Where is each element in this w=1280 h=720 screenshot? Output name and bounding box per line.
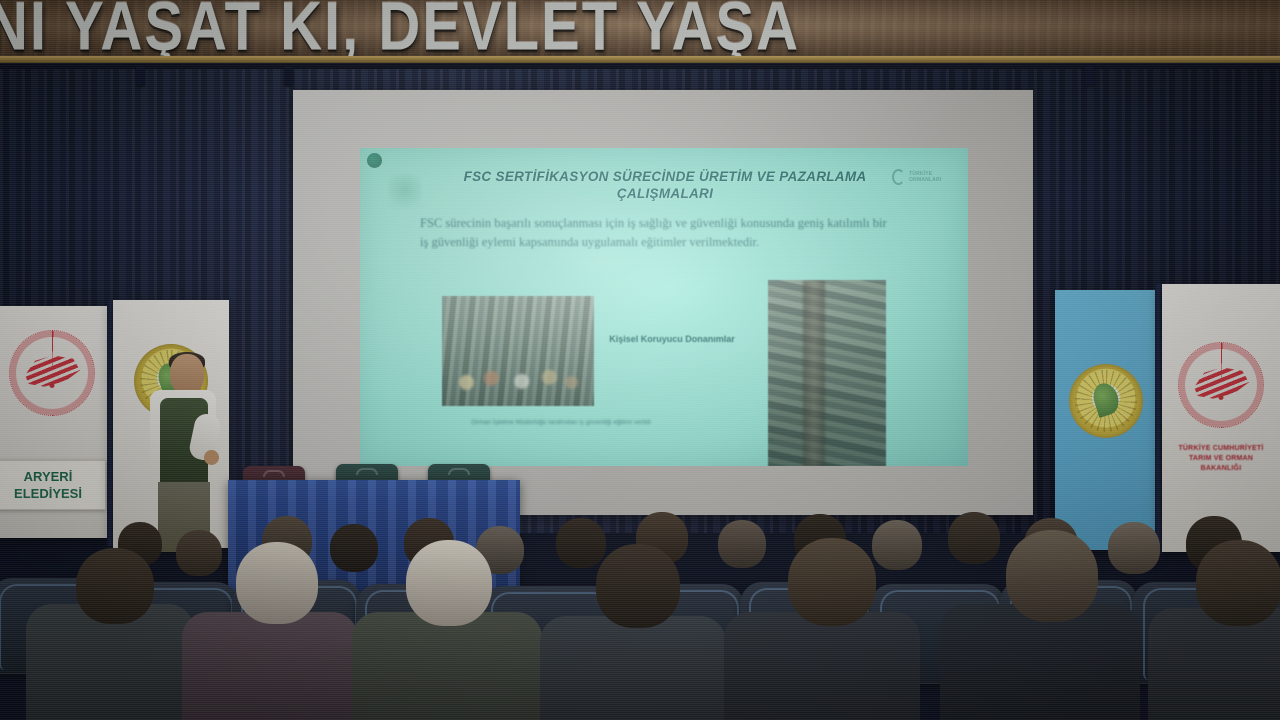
audience-person [352,612,542,720]
tree-trunk [803,280,825,466]
audience-head [556,518,606,568]
curtain-clamp [136,66,145,86]
audience-person [182,612,358,720]
conference-hall-photo: NI YAŞAT KI, DEVLET YAŞA TÜRKİYE ORMANLA… [0,0,1280,720]
municipality-line-1: ARYERİ [0,468,101,485]
watermark-icon [388,174,422,210]
slide-photo-forest-workers [442,296,594,406]
audience-head [330,524,378,572]
banner-org-name: TÜRKİYE CUMHURİYETİ TARIM VE ORMAN BAKAN… [1162,444,1280,474]
audience-head [596,544,680,628]
audience-head [948,512,1000,564]
slide-body-text: FSC sürecinin başarılı sonuçlanması için… [420,214,890,252]
audience-head-bald [236,542,318,624]
ministry-seal-icon [1178,342,1264,428]
leaf-badge-icon [367,153,382,168]
audience-head [718,520,766,568]
hall-header-band: NI YAŞAT KI, DEVLET YAŞA [0,0,1280,58]
presentation-slide: TÜRKİYE ORMANLARI FSC SERTİFİKASYON SÜRE… [360,148,968,466]
slide-photo-forest-tree [768,280,886,466]
presenter-head [170,354,204,394]
presenter-hand [204,450,219,465]
audience-head [788,538,876,626]
audience-head [872,520,922,570]
audience-head-bald [406,540,492,626]
slide-title: FSC SERTİFİKASYON SÜRECİNDE ÜRETİM VE PA… [420,168,910,202]
hall-wall-motto: NI YAŞAT KI, DEVLET YAŞA [0,0,1280,58]
audience-head [1108,522,1160,574]
audience-person [540,616,726,720]
chair-grip [356,468,378,475]
seal-dot-icon [50,383,55,388]
seal-dot-icon [1219,395,1224,400]
slide-caption: Orman İşletme Müdürlüğü tarafından iş gü… [396,418,726,428]
slide-photo-label: Kişisel Koruyucu Donanımlar [608,333,736,345]
worker-figures [450,346,588,398]
slide-logo-label: TÜRKİYE ORMANLARI [909,171,941,183]
forestry-seal-icon [1069,364,1143,438]
audience-head [1006,530,1098,622]
audience-head [176,530,222,576]
chair-grip [448,468,470,475]
curtain-clamp [1085,66,1094,86]
audience-person [724,612,920,720]
audience-head [1196,540,1280,626]
audience-person [1148,608,1280,720]
chair-grip [263,470,285,477]
audience-head [76,548,154,624]
ministry-seal-icon [9,330,95,416]
curtain-clamp [284,66,293,86]
audience-area [0,500,1280,720]
